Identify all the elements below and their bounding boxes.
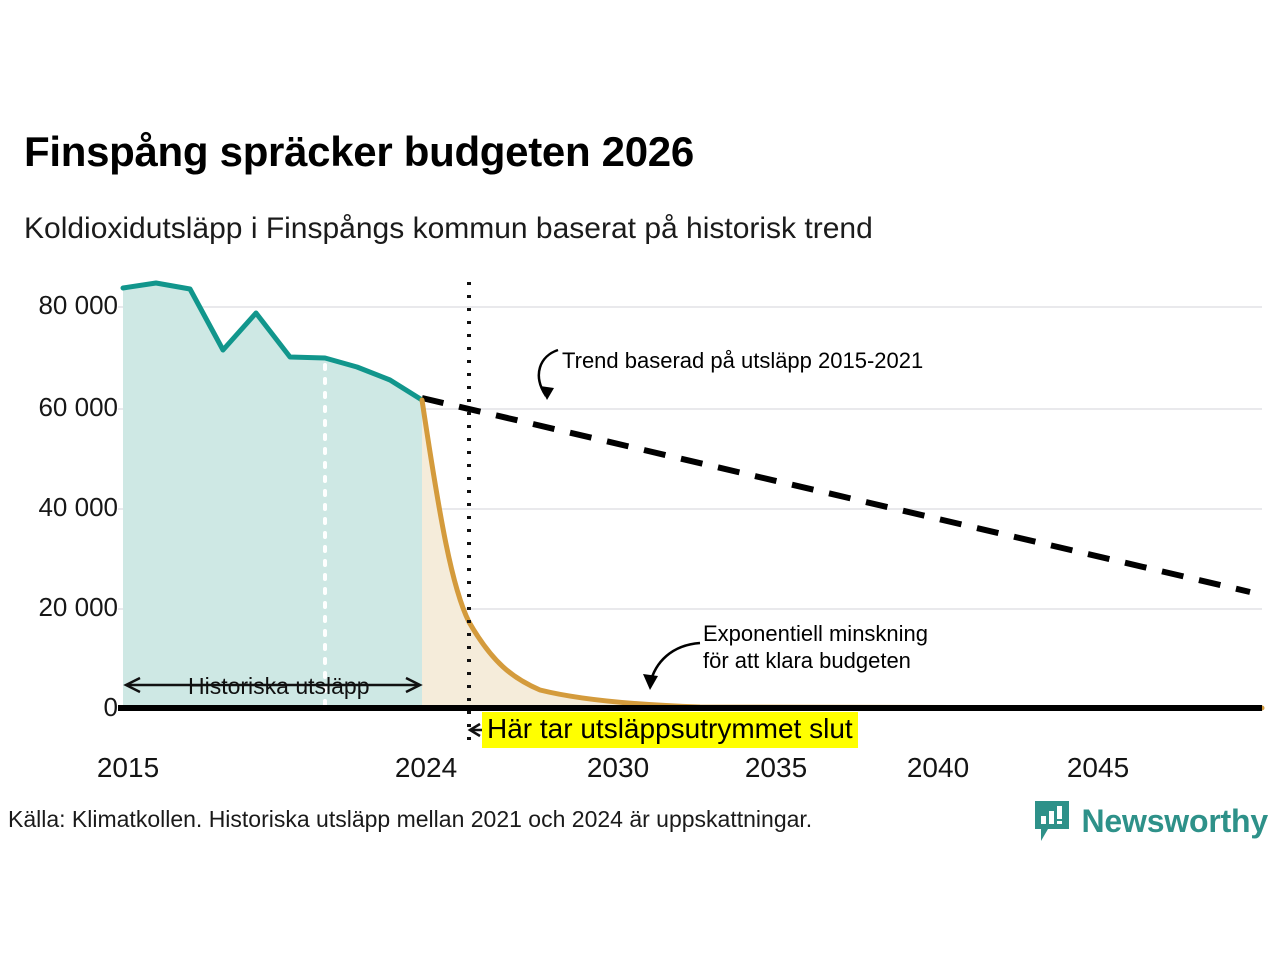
x-tick-2045: 2045 (1067, 752, 1129, 784)
x-tick-2040: 2040 (907, 752, 969, 784)
page-subtitle: Koldioxidutsläpp i Finspångs kommun base… (24, 212, 873, 246)
chart-page: Finspång spräcker budgeten 2026 Koldioxi… (0, 0, 1280, 960)
y-tick-40000: 40 000 (0, 492, 118, 523)
y-tick-20000: 20 000 (0, 592, 118, 623)
y-axis-ticks: 80 000 60 000 40 000 20 000 0 (0, 270, 118, 790)
trend-dashed-line (422, 398, 1250, 592)
x-tick-2015: 2015 (97, 752, 159, 784)
annotation-budget-end: Här tar utsläppsutrymmet slut (482, 712, 858, 748)
x-tick-2024: 2024 (395, 752, 457, 784)
logo-wordmark: Newsworthy (1082, 803, 1269, 840)
annotation-historical: Historiska utsläpp (188, 673, 370, 700)
annotation-exponential-line1: Exponentiell minskning (703, 620, 928, 647)
exponential-leader-arrow (643, 643, 700, 690)
trend-leader-arrow (539, 350, 558, 400)
y-tick-0: 0 (0, 692, 118, 723)
x-tick-2030: 2030 (587, 752, 649, 784)
annotation-trend: Trend baserad på utsläpp 2015-2021 (562, 347, 923, 374)
historical-area-fill (123, 283, 422, 708)
x-tick-2035: 2035 (745, 752, 807, 784)
page-title: Finspång spräcker budgeten 2026 (24, 128, 694, 176)
y-tick-80000: 80 000 (0, 290, 118, 321)
speech-bubble-chart-icon (1032, 799, 1072, 843)
y-tick-60000: 60 000 (0, 392, 118, 423)
annotation-exponential: Exponentiell minskning för att klara bud… (703, 620, 928, 674)
newsworthy-logo: Newsworthy (1032, 798, 1269, 844)
source-note: Källa: Klimatkollen. Historiska utsläpp … (8, 806, 812, 833)
annotation-exponential-line2: för att klara budgeten (703, 647, 928, 674)
